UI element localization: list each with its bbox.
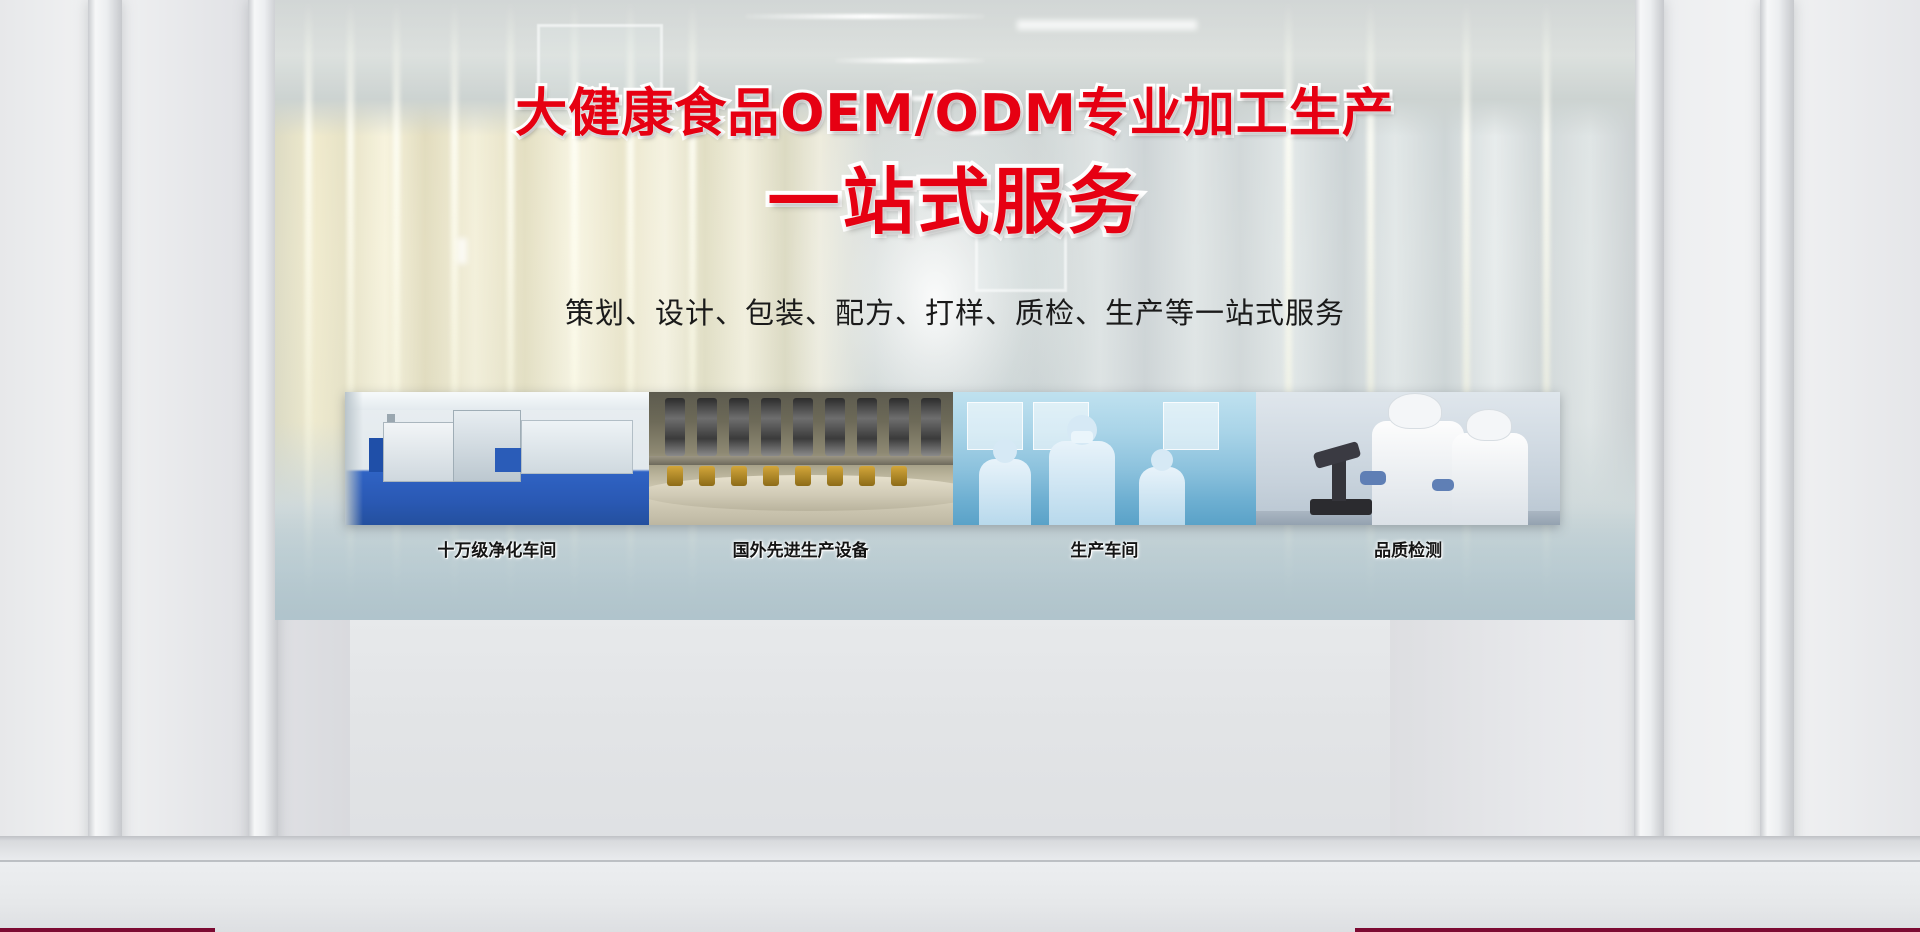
photo-caption-4: 品质检测 <box>1256 536 1560 561</box>
floor-skirting-line <box>0 860 1920 862</box>
floor-trim-right <box>1355 928 1920 932</box>
photo-strip <box>345 392 1560 525</box>
photo-caption-row: 十万级净化车间 国外先进生产设备 生产车间 品质检测 <box>345 536 1560 561</box>
wall-pillar-3 <box>1634 0 1664 858</box>
photo-image-2 <box>649 392 953 525</box>
photo-clean-room-filling-line <box>345 392 649 525</box>
showroom-floor <box>0 836 1920 932</box>
photo-caption-3: 生产车间 <box>953 536 1257 561</box>
photo-caption-1: 十万级净化车间 <box>345 536 649 561</box>
promotional-banner: 大健康食品OEM/ODM专业加工生产 一站式服务 策划、设计、包装、配方、打样、… <box>275 0 1635 620</box>
floor-trim-left <box>0 928 215 932</box>
headline-secondary: 一站式服务 <box>275 166 1635 238</box>
photo-image-3 <box>953 392 1257 525</box>
wall-pillar-1 <box>88 0 122 858</box>
wall-pillar-4 <box>1760 0 1794 858</box>
wall-pillar-2 <box>248 0 278 858</box>
photo-caption-2: 国外先进生产设备 <box>649 536 953 561</box>
banner-subheadline: 策划、设计、包装、配方、打样、质检、生产等一站式服务 <box>275 290 1635 332</box>
screenshot-root: 大健康食品OEM/ODM专业加工生产 一站式服务 策划、设计、包装、配方、打样、… <box>0 0 1920 932</box>
banner-headline-block: 大健康食品OEM/ODM专业加工生产 一站式服务 <box>275 88 1635 238</box>
photo-production-workshop <box>953 392 1257 525</box>
photo-quality-inspection <box>1256 392 1560 525</box>
photo-image-1 <box>345 392 649 525</box>
photo-imported-capping-machine <box>649 392 953 525</box>
photo-image-4 <box>1256 392 1560 525</box>
headline-primary: 大健康食品OEM/ODM专业加工生产 <box>275 88 1635 140</box>
